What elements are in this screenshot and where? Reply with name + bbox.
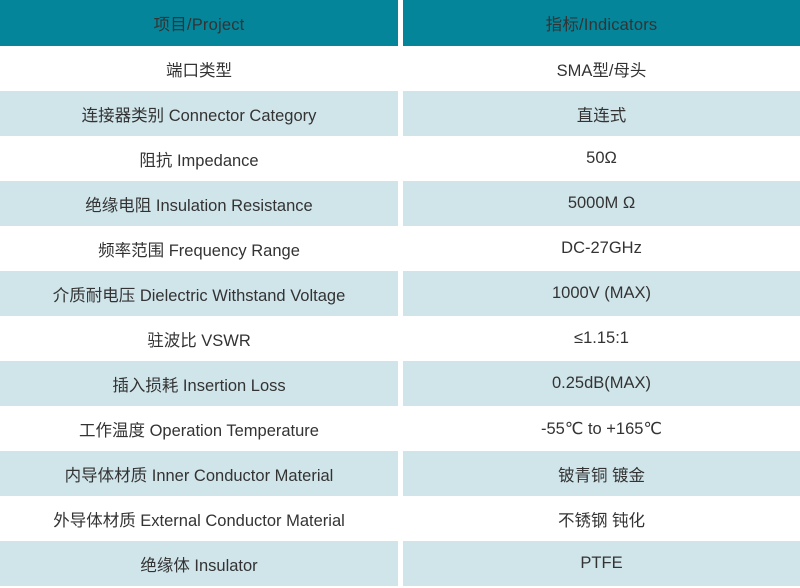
table-row: 介质耐电压 Dielectric Withstand Voltage 1000V… — [0, 271, 800, 316]
cell-project: 频率范围 Frequency Range — [0, 226, 398, 271]
cell-indicator: 铍青铜 镀金 — [403, 451, 800, 496]
table-row: 绝缘电阻 Insulation Resistance 5000M Ω — [0, 181, 800, 226]
cell-indicator: DC-27GHz — [403, 226, 800, 271]
cell-indicator: 5000M Ω — [403, 181, 800, 226]
table-row: 端口类型 SMA型/母头 — [0, 46, 800, 91]
cell-indicator: PTFE — [403, 541, 800, 586]
cell-project: 外导体材质 External Conductor Material — [0, 496, 398, 541]
specification-table: 项目/Project 指标/Indicators 端口类型 SMA型/母头 连接… — [0, 0, 800, 588]
cell-indicator: 直连式 — [403, 91, 800, 136]
table-row: 工作温度 Operation Temperature -55℃ to +165℃ — [0, 406, 800, 451]
column-header-project: 项目/Project — [0, 0, 398, 46]
cell-project: 连接器类别 Connector Category — [0, 91, 398, 136]
column-header-indicators: 指标/Indicators — [403, 0, 800, 46]
table-row: 驻波比 VSWR ≤1.15:1 — [0, 316, 800, 361]
cell-project: 阻抗 Impedance — [0, 136, 398, 181]
cell-indicator: ≤1.15:1 — [403, 316, 800, 361]
cell-indicator: 1000V (MAX) — [403, 271, 800, 316]
cell-indicator: -55℃ to +165℃ — [403, 406, 800, 451]
cell-indicator: 50Ω — [403, 136, 800, 181]
cell-project: 驻波比 VSWR — [0, 316, 398, 361]
table-row: 外导体材质 External Conductor Material 不锈钢 钝化 — [0, 496, 800, 541]
table-row: 内导体材质 Inner Conductor Material 铍青铜 镀金 — [0, 451, 800, 496]
table-row: 绝缘体 Insulator PTFE — [0, 541, 800, 586]
table-row: 阻抗 Impedance 50Ω — [0, 136, 800, 181]
cell-project: 工作温度 Operation Temperature — [0, 406, 398, 451]
cell-project: 端口类型 — [0, 46, 398, 91]
cell-indicator: 0.25dB(MAX) — [403, 361, 800, 406]
cell-indicator: 不锈钢 钝化 — [403, 496, 800, 541]
cell-project: 绝缘电阻 Insulation Resistance — [0, 181, 398, 226]
cell-project: 绝缘体 Insulator — [0, 541, 398, 586]
table-row: 插入损耗 Insertion Loss 0.25dB(MAX) — [0, 361, 800, 406]
cell-project: 内导体材质 Inner Conductor Material — [0, 451, 398, 496]
cell-project: 插入损耗 Insertion Loss — [0, 361, 398, 406]
cell-indicator: SMA型/母头 — [403, 46, 800, 91]
cell-project: 介质耐电压 Dielectric Withstand Voltage — [0, 271, 398, 316]
table-header-row: 项目/Project 指标/Indicators — [0, 0, 800, 46]
table-row: 连接器类别 Connector Category 直连式 — [0, 91, 800, 136]
table-row: 频率范围 Frequency Range DC-27GHz — [0, 226, 800, 271]
